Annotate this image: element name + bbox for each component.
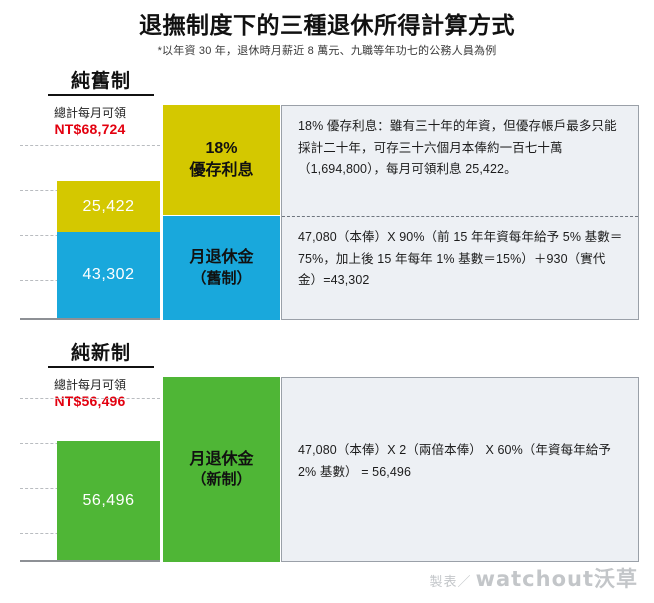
footer-credit: 製表／ watchout沃草 (430, 563, 638, 593)
section-heading-old: 純舊制 (48, 66, 154, 96)
bar-segment-interest-18: 25,422 (57, 181, 160, 232)
pension-old-label-line2: （舊制） (191, 269, 251, 289)
description-panel-old: 18% 優存利息：雖有三十年的年資，但優存帳戶最多只能採計二十年，可存三十六個月… (281, 105, 639, 320)
bar-value-label: 43,302 (83, 266, 135, 284)
chart-new-system: 總計每月可領 NT$56,496 56,496 (20, 376, 160, 562)
bar-pension-new: 56,496 (57, 441, 160, 560)
label-block-pension-new: 月退休金 （新制） (163, 377, 280, 562)
plot-area-new: 56,496 (20, 376, 160, 562)
page-title: 退撫制度下的三種退休所得計算方式 (0, 6, 654, 40)
bar-value-label: 56,496 (83, 492, 135, 510)
bar-value-label: 25,422 (83, 198, 135, 216)
pension-new-label-line2: （新制） (191, 470, 251, 490)
pension-old-label-line1: 月退休金 (189, 247, 253, 269)
axis-baseline (20, 560, 160, 562)
section-heading-new: 純新制 (48, 338, 154, 368)
gridline (20, 145, 160, 146)
description-pension-new: 47,080（本俸）X 2（兩倍本俸） X 60%（年資每年給予 2% 基數） … (282, 430, 638, 510)
label-block-interest-18: 18% 優存利息 (163, 105, 280, 215)
description-interest-18: 18% 優存利息：雖有三十年的年資，但優存帳戶最多只能採計二十年，可存三十六個月… (282, 106, 638, 216)
label-block-pension-old: 月退休金 （舊制） (163, 216, 280, 320)
description-pension-old: 47,080（本俸）X 90%（前 15 年年資每年給予 5% 基數＝75%，加… (282, 217, 638, 320)
interest-name-label: 優存利息 (189, 160, 253, 182)
interest-rate-label: 18% (205, 138, 237, 160)
gridline (20, 398, 160, 399)
footer-by-label: 製表／ (430, 571, 472, 590)
description-panel-new: 47,080（本俸）X 2（兩倍本俸） X 60%（年資每年給予 2% 基數） … (281, 377, 639, 562)
pension-new-label-line1: 月退休金 (189, 449, 253, 471)
chart-old-system: 總計每月可領 NT$68,724 43,302 25,422 (20, 104, 160, 320)
plot-area-old: 43,302 25,422 (20, 104, 160, 320)
footer-brand-logo: watchout沃草 (476, 563, 638, 593)
bar-segment-pension-old: 43,302 (57, 232, 160, 318)
axis-baseline (20, 318, 160, 320)
page-subtitle: *以年資 30 年，退休時月薪近 8 萬元、九職等年功七的公務人員為例 (0, 42, 654, 58)
